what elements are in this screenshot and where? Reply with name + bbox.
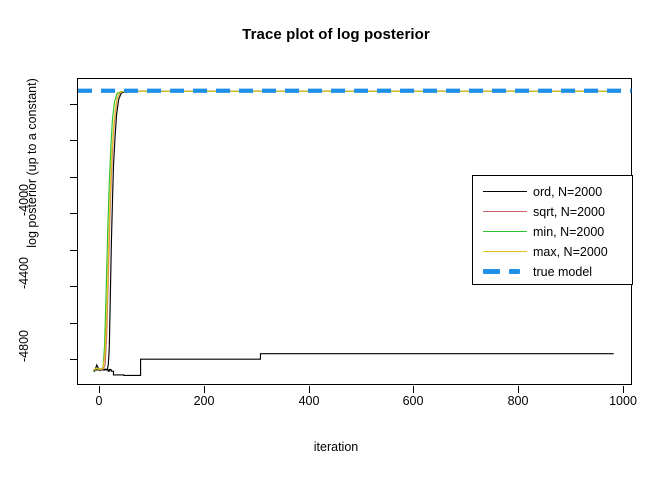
legend-label: ord, N=2000	[533, 185, 602, 199]
chart-legend: ord, N=2000sqrt, N=2000min, N=2000max, N…	[472, 175, 633, 285]
legend-label: sqrt, N=2000	[533, 205, 605, 219]
legend-label: min, N=2000	[533, 225, 604, 239]
legend-label: true model	[533, 265, 592, 279]
legend-item-min[interactable]: min, N=2000	[473, 222, 634, 242]
legend-swatch-icon	[483, 205, 527, 219]
legend-item-ord[interactable]: ord, N=2000	[473, 182, 634, 202]
chart-figure: Trace plot of log posterior log posterio…	[0, 0, 672, 480]
legend-swatch-icon	[483, 185, 527, 199]
legend-label: max, N=2000	[533, 245, 608, 259]
series-line-ord-lower-mode	[93, 354, 614, 376]
legend-item-max[interactable]: max, N=2000	[473, 242, 634, 262]
legend-swatch-icon	[483, 225, 527, 239]
legend-swatch-icon	[483, 245, 527, 259]
legend-item-true-model[interactable]: true model	[473, 262, 634, 282]
legend-item-sqrt[interactable]: sqrt, N=2000	[473, 202, 634, 222]
legend-swatch-icon	[483, 265, 527, 279]
